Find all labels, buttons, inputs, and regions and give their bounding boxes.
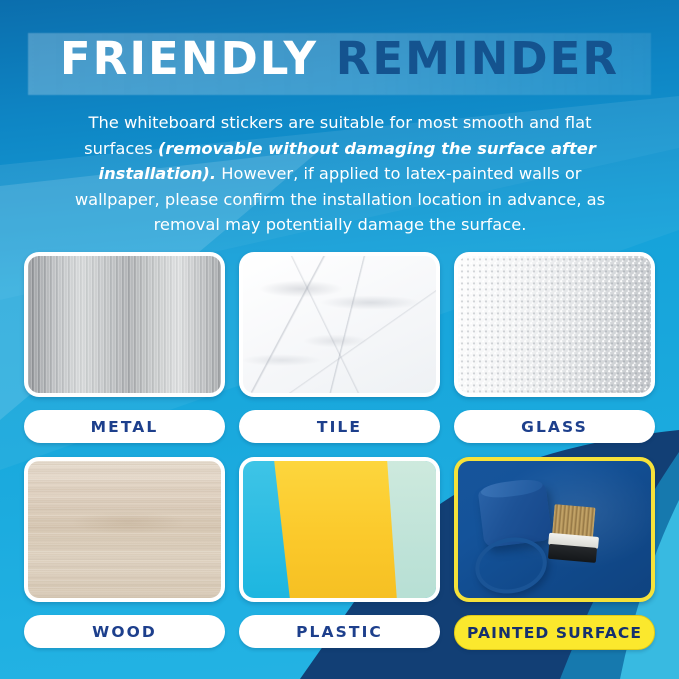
glass-texture-image	[458, 256, 651, 393]
surface-label-text: PAINTED SURFACE	[467, 624, 642, 642]
title-word-friendly: FRIENDLY	[60, 32, 318, 85]
surface-card-plastic[interactable]: PLASTIC	[239, 457, 440, 650]
surface-label-pill-glass[interactable]: GLASS	[454, 410, 655, 443]
painted-surface-photo	[458, 461, 651, 598]
surface-card-metal[interactable]: METAL	[24, 252, 225, 443]
surface-label-text: PLASTIC	[296, 623, 383, 641]
surface-label-text: TILE	[317, 418, 362, 436]
surface-card-glass[interactable]: GLASS	[454, 252, 655, 443]
surface-card-tile[interactable]: TILE	[239, 252, 440, 443]
intro-paragraph: The whiteboard stickers are suitable for…	[56, 110, 624, 238]
title-word-reminder: REMINDER	[336, 32, 619, 85]
plastic-texture-image	[243, 461, 436, 598]
tile-texture-image	[243, 256, 436, 393]
surface-thumb-painted-surface[interactable]	[454, 457, 655, 602]
surface-label-pill-tile[interactable]: TILE	[239, 410, 440, 443]
surface-thumb-glass[interactable]	[454, 252, 655, 397]
surface-label-pill-metal[interactable]: METAL	[24, 410, 225, 443]
surface-label-text: GLASS	[521, 418, 588, 436]
wood-texture-image	[28, 461, 221, 598]
surface-label-pill-wood[interactable]: WOOD	[24, 615, 225, 648]
surface-card-wood[interactable]: WOOD	[24, 457, 225, 650]
surface-label-text: WOOD	[92, 623, 157, 641]
metal-texture-image	[28, 256, 221, 393]
surface-thumb-tile[interactable]	[239, 252, 440, 397]
surface-thumb-wood[interactable]	[24, 457, 225, 602]
surface-label-pill-plastic[interactable]: PLASTIC	[239, 615, 440, 648]
surface-label-text: METAL	[91, 418, 159, 436]
paint-hose-ring	[470, 531, 551, 598]
page-title: FRIENDLY REMINDER	[0, 29, 679, 89]
surface-card-painted-surface[interactable]: PAINTED SURFACE	[454, 457, 655, 650]
surface-thumb-plastic[interactable]	[239, 457, 440, 602]
surface-thumb-metal[interactable]	[24, 252, 225, 397]
promo-graphic: FRIENDLY REMINDER The whiteboard sticker…	[0, 0, 679, 679]
surface-grid: METAL TILE GLASS WOOD	[24, 252, 655, 650]
surface-label-pill-painted-surface[interactable]: PAINTED SURFACE	[454, 615, 655, 650]
brush-handle	[548, 544, 597, 564]
paint-brush-icon	[546, 504, 603, 569]
